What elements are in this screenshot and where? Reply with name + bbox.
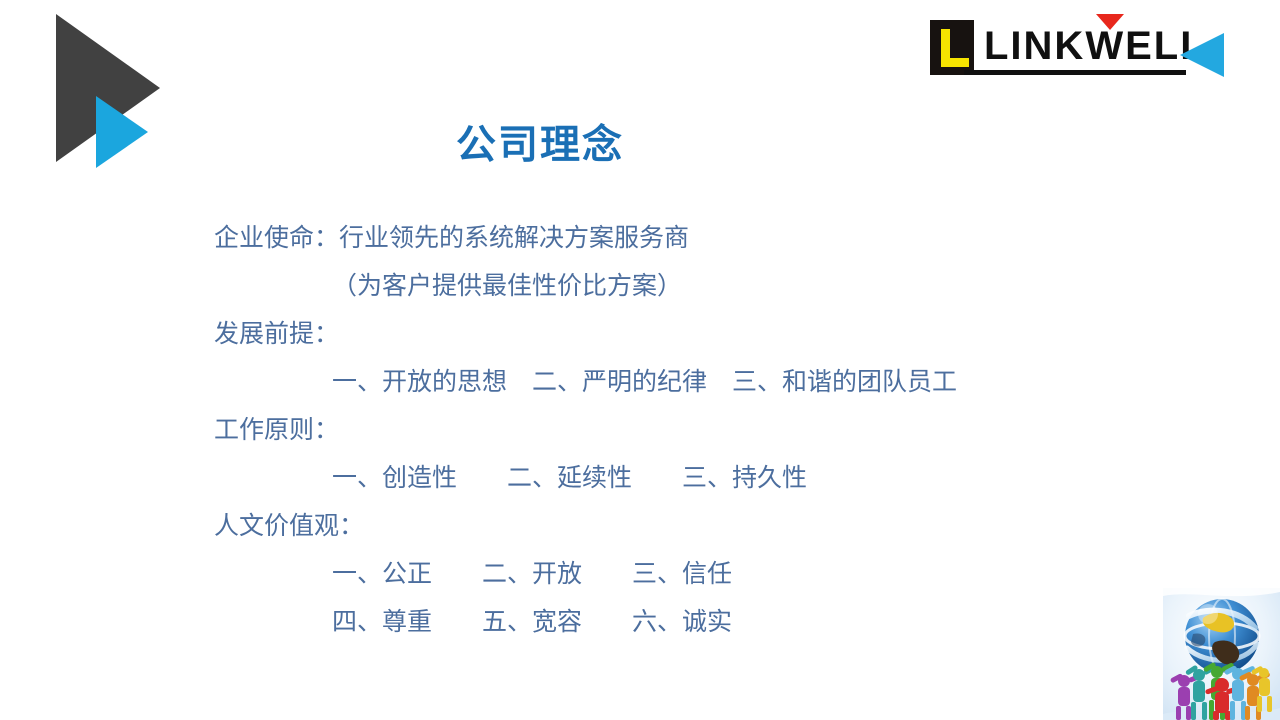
content-line: 工作原则： [214, 406, 1094, 454]
logo-l-mark-icon [930, 20, 974, 75]
linkwell-logo: LINKWELL [928, 12, 1228, 90]
globe-with-people-icon [1163, 588, 1280, 720]
logo-underline [964, 70, 1186, 75]
content-line: 一、创造性 二、延续性 三、持久性 [214, 454, 1094, 502]
logo-wordmark: LINKWELL [984, 23, 1207, 69]
logo-l-horizontal-stroke [941, 58, 969, 67]
page-title: 公司理念 [0, 112, 1080, 170]
slide-canvas: LINKWELL 公司理念 企业使命：行业领先的系统解决方案服务商 （为客户提供… [0, 0, 1280, 720]
content-line: 企业使命：行业领先的系统解决方案服务商 [214, 214, 1094, 262]
content-body: 企业使命：行业领先的系统解决方案服务商 （为客户提供最佳性价比方案） 发展前提：… [214, 214, 1094, 646]
content-line: （为客户提供最佳性价比方案） [214, 262, 1094, 310]
content-line: 发展前提： [214, 310, 1094, 358]
content-line: 一、开放的思想 二、严明的纪律 三、和谐的团队员工 [214, 358, 1094, 406]
corner-decoration [0, 0, 220, 200]
content-line: 四、尊重 五、宽容 六、诚实 [214, 598, 1094, 646]
content-line: 一、公正 二、开放 三、信任 [214, 550, 1094, 598]
content-line: 人文价值观： [214, 502, 1094, 550]
logo-blue-triangle-icon [1180, 33, 1224, 77]
